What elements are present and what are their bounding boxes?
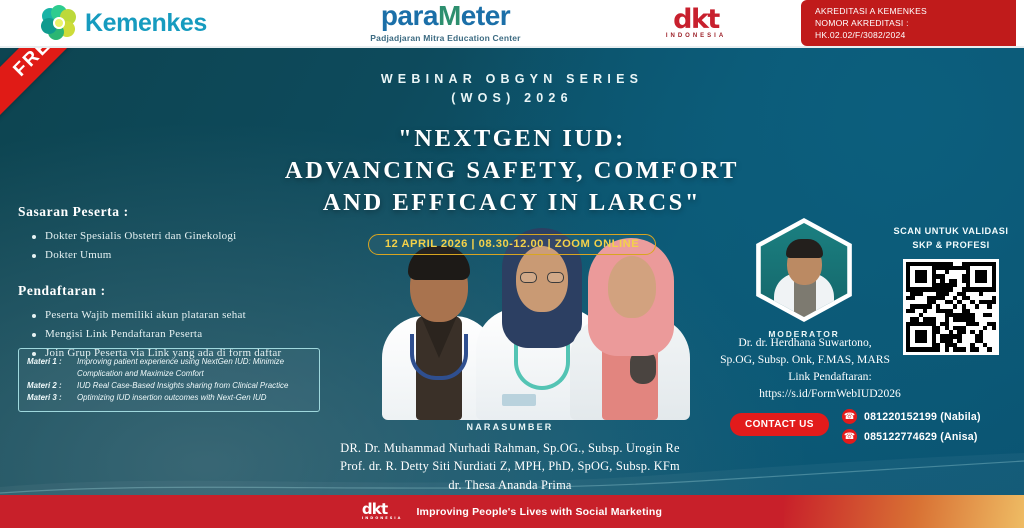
footer-swoosh: [784, 495, 1024, 528]
moderator-name-line-2: Sp.OG, Subsp. Onk, F.MAS, MARS: [690, 351, 920, 368]
parameter-wordmark: paraMeter: [300, 2, 591, 30]
main-title-line-2: ADVANCING SAFETY, COMFORT: [0, 155, 1024, 187]
moderator-name: Dr. dr. Herdhana Suwartono, Sp.OG, Subsp…: [690, 334, 920, 368]
list-item: Peserta Wajib memiliki akun plataran seh…: [32, 306, 348, 325]
poster-header: Kemenkes paraMeter Padjadjaran Mitra Edu…: [0, 0, 1024, 48]
moderator-name-line-1: Dr. dr. Herdhana Suwartono,: [690, 334, 920, 351]
registration-link-url[interactable]: https://s.id/FormWebIUD2026: [700, 385, 960, 402]
phone-icon: ☎: [842, 409, 857, 424]
poster-footer: dkt INDONESIA Improving People's Lives w…: [0, 495, 1024, 528]
phone-number: 081220152199 (Nabila): [864, 411, 981, 423]
narasumber-name: DR. Dr. Muhammad Nurhadi Rahman, Sp.OG.,…: [280, 439, 740, 457]
materi-text: Optimizing IUD insertion outcomes with N…: [77, 392, 310, 404]
phone-number: 085122774629 (Anisa): [864, 431, 978, 443]
narasumber-block: NARASUMBER DR. Dr. Muhammad Nurhadi Rahm…: [280, 422, 740, 494]
materi-text: Improving patient experience using NextG…: [77, 356, 310, 380]
narasumber-name: Prof. dr. R. Detty Siti Nurdiati Z, MPH,…: [280, 457, 740, 475]
qr-title-line-1: SCAN UNTUK VALIDASI: [892, 225, 1010, 239]
series-line-1: WEBINAR OBGYN SERIES: [0, 70, 1024, 89]
sasaran-peserta-heading: Sasaran Peserta :: [18, 204, 348, 220]
narasumber-names: DR. Dr. Muhammad Nurhadi Rahman, Sp.OG.,…: [280, 439, 740, 494]
materi-row: Materi 1 : Improving patient experience …: [27, 356, 310, 380]
materi-label: Materi 3 :: [27, 392, 77, 404]
glasses-icon: [520, 272, 564, 283]
sasaran-peserta-list: Dokter Spesialis Obstetri dan Ginekologi…: [32, 227, 348, 265]
dkt-wordmark: dkt: [673, 7, 719, 33]
footer-dkt-logo: dkt INDONESIA: [362, 502, 403, 521]
pendaftaran-heading: Pendaftaran :: [18, 283, 348, 299]
narasumber-name: dr. Thesa Ananda Prima: [280, 476, 740, 494]
materi-row: Materi 2 : IUD Real Case-Based Insights …: [27, 380, 310, 392]
phone-row[interactable]: ☎ 081220152199 (Nabila): [842, 409, 981, 424]
parameter-logo: paraMeter Padjadjaran Mitra Education Ce…: [300, 2, 591, 43]
main-title-line-1: "NEXTGEN IUD:: [0, 123, 1024, 155]
akreditasi-badge: AKREDITASI A KEMENKES NOMOR AKREDITASI :…: [801, 0, 1016, 46]
parameter-leaf-icon: M: [438, 0, 461, 31]
kemenkes-wordmark: Kemenkes: [85, 9, 207, 38]
akreditasi-line-3: HK.02.02/F/3082/2024: [815, 29, 1006, 41]
dkt-subtitle: INDONESIA: [666, 33, 726, 39]
qr-title-line-2: SKP & PROFESI: [892, 239, 1010, 253]
phone-list: ☎ 081220152199 (Nabila) ☎ 085122774629 (…: [842, 409, 981, 449]
phone-row[interactable]: ☎ 085122774629 (Anisa): [842, 429, 981, 444]
list-item: Mengisi Link Pendaftaran Peserta: [32, 325, 348, 344]
qr-block: SCAN UNTUK VALIDASI SKP & PROFESI: [892, 225, 1010, 355]
audience-and-registration: Sasaran Peserta : Dokter Spesialis Obste…: [18, 204, 348, 363]
list-item: Dokter Spesialis Obstetri dan Ginekologi: [32, 227, 348, 246]
kemenkes-logo: Kemenkes: [0, 6, 300, 40]
materi-label: Materi 1 :: [27, 356, 77, 380]
webinar-poster: Kemenkes paraMeter Padjadjaran Mitra Edu…: [0, 0, 1024, 528]
date-time-badge: 12 APRIL 2026 | 08.30-12.00 | ZOOM ONLIN…: [368, 234, 656, 255]
contact-us-button[interactable]: CONTACT US: [730, 413, 829, 436]
parameter-subtitle: Padjadjaran Mitra Education Center: [300, 33, 591, 43]
qr-code-image[interactable]: [903, 259, 999, 355]
series-line-2: (WOS) 2026: [0, 89, 1024, 108]
footer-tagline: Improving People's Lives with Social Mar…: [416, 506, 662, 518]
akreditasi-line-1: AKREDITASI A KEMENKES: [815, 5, 1006, 17]
speaker-photo-3: [570, 238, 690, 420]
footer-dkt-subtitle: INDONESIA: [362, 517, 403, 521]
parameter-word-part1: para: [381, 0, 438, 31]
registration-link-label: Link Pendaftaran:: [700, 368, 960, 385]
parameter-word-part2: eter: [461, 0, 510, 31]
narasumber-label: NARASUMBER: [280, 422, 740, 432]
kemenkes-flower-icon: [42, 6, 76, 40]
akreditasi-line-2: NOMOR AKREDITASI :: [815, 17, 1006, 29]
registration-link-block: Link Pendaftaran: https://s.id/FormWebIU…: [700, 368, 960, 403]
moderator-block: MODERATOR: [752, 218, 856, 339]
list-item: Dokter Umum: [32, 246, 348, 265]
materi-label: Materi 2 :: [27, 380, 77, 392]
phone-icon: ☎: [842, 429, 857, 444]
materi-text: IUD Real Case-Based Insights sharing fro…: [77, 380, 310, 392]
materi-row: Materi 3 : Optimizing IUD insertion outc…: [27, 392, 310, 404]
dkt-logo: dkt INDONESIA: [591, 7, 801, 40]
moderator-avatar: [752, 218, 856, 322]
materi-box: Materi 1 : Improving patient experience …: [18, 348, 320, 412]
